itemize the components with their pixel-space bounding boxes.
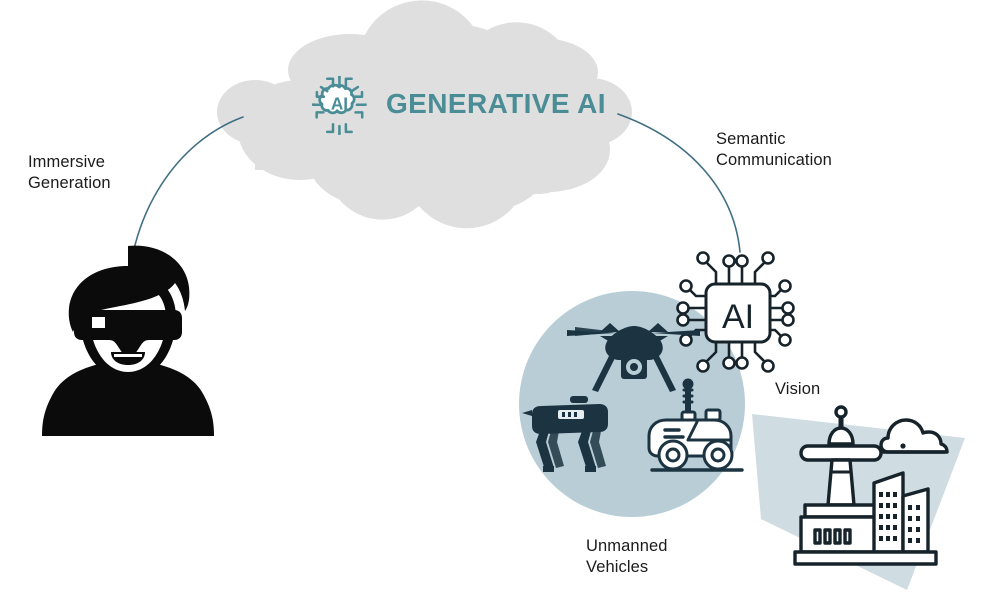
observation-tower-icon (801, 407, 881, 552)
city-ground-bar (795, 552, 936, 564)
label-semantic-communication: Semantic Communication (716, 129, 832, 171)
label-unmanned-vehicles: Unmanned Vehicles (586, 536, 668, 578)
diagram-canvas: AI GENERATIVE AI (0, 0, 991, 605)
buildings-icon (874, 473, 928, 552)
cloud-icon (881, 420, 947, 452)
vision-scene-layer (0, 0, 991, 605)
label-immersive-generation: Immersive Generation (28, 152, 111, 194)
label-vision: Vision (775, 379, 820, 400)
